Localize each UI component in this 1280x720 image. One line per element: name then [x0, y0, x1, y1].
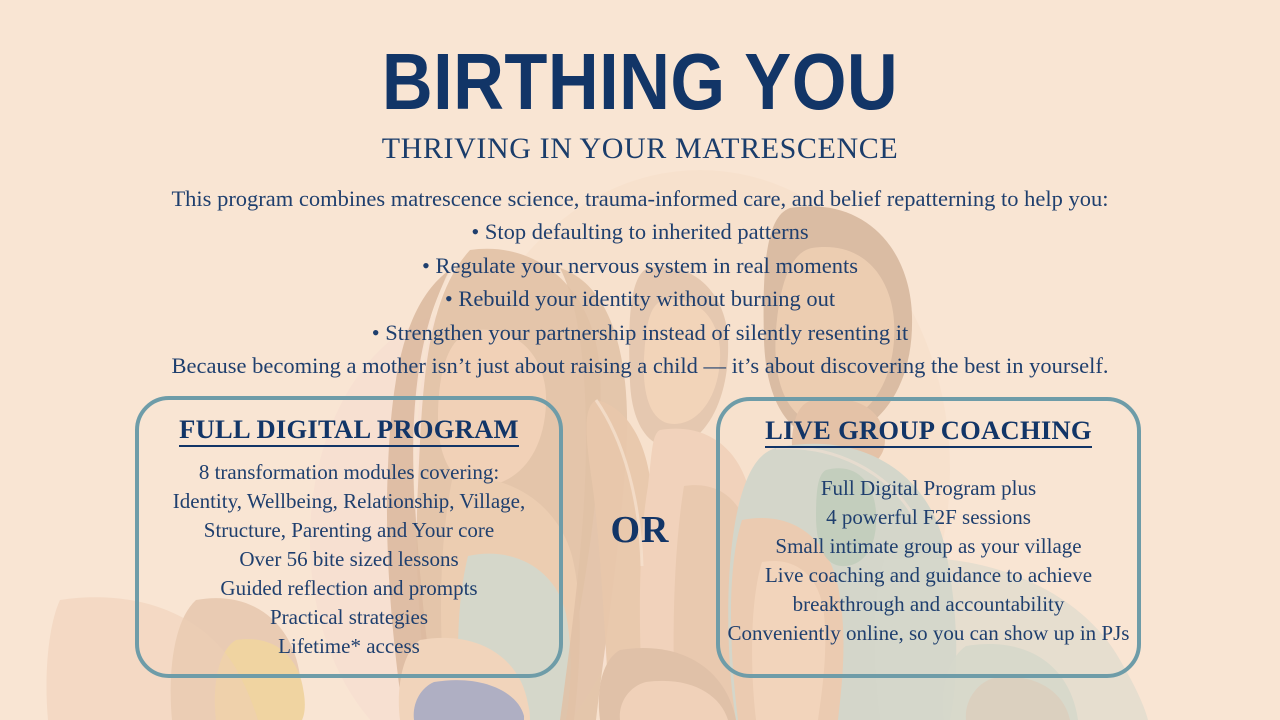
card-left-line-7: Lifetime* access: [139, 632, 559, 661]
intro-bullet-3: • Rebuild your identity without burning …: [0, 282, 1280, 315]
card-right-line-5: breakthrough and accountability: [720, 590, 1137, 619]
card-full-digital-program[interactable]: FULL DIGITAL PROGRAM 8 transformation mo…: [135, 396, 563, 678]
slide-canvas: BIRTHING YOU THRIVING IN YOUR MATRESCENC…: [0, 0, 1280, 720]
card-left-line-4: Over 56 bite sized lessons: [139, 545, 559, 574]
card-right-heading-text: LIVE GROUP COACHING: [765, 415, 1092, 448]
page-title: BIRTHING YOU: [77, 42, 1203, 122]
card-right-line-6: Conveniently online, so you can show up …: [720, 619, 1137, 648]
card-left-line-5: Guided reflection and prompts: [139, 574, 559, 603]
card-left-heading: FULL DIGITAL PROGRAM: [139, 414, 559, 445]
intro-bullet-4: • Strengthen your partnership instead of…: [0, 316, 1280, 349]
card-right-line-2: 4 powerful F2F sessions: [720, 503, 1137, 532]
card-right-line-1: Full Digital Program plus: [720, 474, 1137, 503]
card-left-line-6: Practical strategies: [139, 603, 559, 632]
card-left-heading-text: FULL DIGITAL PROGRAM: [179, 414, 519, 447]
intro-block: This program combines matrescence scienc…: [0, 182, 1280, 382]
card-right-body: Full Digital Program plus 4 powerful F2F…: [720, 474, 1137, 648]
intro-bullet-2: • Regulate your nervous system in real m…: [0, 249, 1280, 282]
card-live-group-coaching[interactable]: LIVE GROUP COACHING Full Digital Program…: [716, 397, 1141, 678]
intro-line-1: This program combines matrescence scienc…: [0, 182, 1280, 215]
or-divider-label: OR: [570, 508, 710, 552]
card-left-line-1: 8 transformation modules covering:: [139, 458, 559, 487]
page-subtitle: THRIVING IN YOUR MATRESCENCE: [0, 132, 1280, 166]
card-right-line-4: Live coaching and guidance to achieve: [720, 561, 1137, 590]
intro-bullet-1: • Stop defaulting to inherited patterns: [0, 215, 1280, 248]
card-left-body: 8 transformation modules covering: Ident…: [139, 458, 559, 661]
card-left-line-3: Structure, Parenting and Your core: [139, 516, 559, 545]
card-right-line-3: Small intimate group as your village: [720, 532, 1137, 561]
card-right-heading: LIVE GROUP COACHING: [720, 415, 1137, 446]
intro-line-closing: Because becoming a mother isn’t just abo…: [0, 349, 1280, 382]
card-left-line-2: Identity, Wellbeing, Relationship, Villa…: [139, 487, 559, 516]
